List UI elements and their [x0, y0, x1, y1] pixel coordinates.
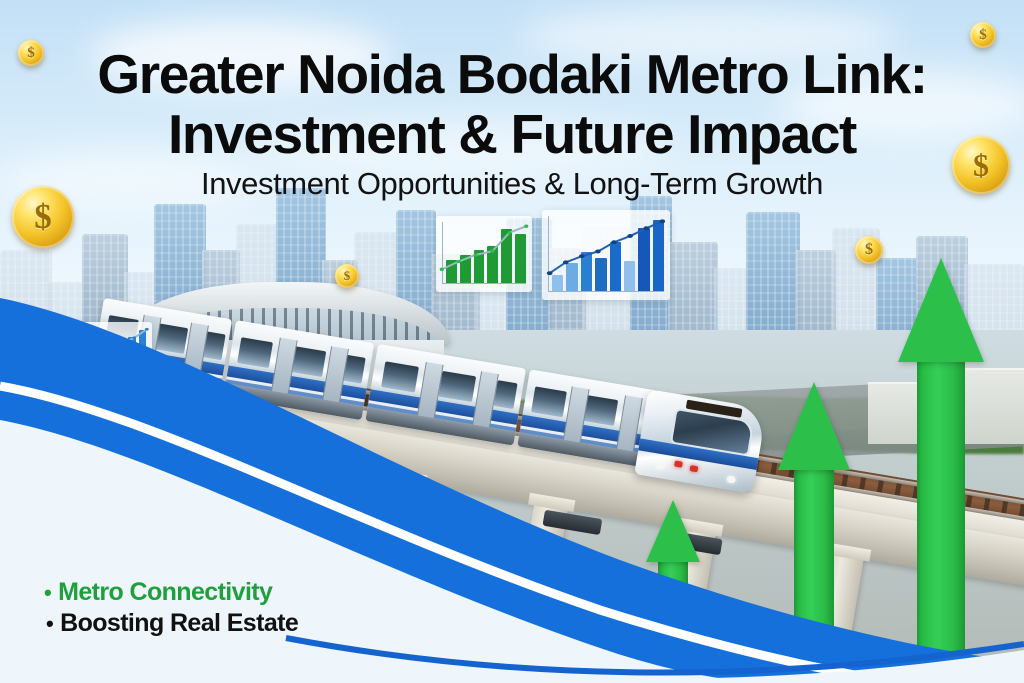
growth-arrow-icon: [646, 497, 700, 562]
chart-bar: [487, 246, 498, 283]
growth-arrow-icon: [898, 255, 984, 362]
chart-x-axis: [548, 291, 664, 292]
train-cab-front: [634, 389, 767, 494]
chart-bar: [128, 337, 135, 375]
tail-lamp-right: [689, 465, 698, 472]
arrow-shaft: [658, 542, 688, 683]
growth-arrow-4: [898, 255, 984, 683]
chart-y-axis: [548, 216, 549, 292]
bullet-metro-connectivity: • Metro Connectivity: [44, 577, 298, 608]
poster-canvas: $$$$$$ Greater Noida Bodaki Metro Link: …: [0, 0, 1024, 683]
chart-bars: [552, 216, 664, 291]
growth-arrow-1: [534, 559, 580, 683]
chart-bar: [595, 258, 606, 291]
chart-bar: [552, 275, 563, 292]
chart-x-axis: [72, 375, 146, 376]
page-subtitle: Investment Opportunities & Long-Term Gro…: [0, 166, 1024, 202]
bullet-boosting-real-estate: • Boosting Real Estate: [44, 608, 298, 639]
head-lamp-right: [726, 475, 736, 483]
chart-bar: [139, 330, 146, 375]
chart-bar: [460, 255, 471, 283]
chart-y-axis: [72, 328, 73, 376]
skyline-blue-bar-chart: [66, 322, 152, 384]
chart-bars: [446, 222, 526, 283]
growth-arrow-3: [778, 379, 850, 683]
chart-bars: [76, 328, 146, 375]
chart-bar: [624, 261, 635, 291]
bullet-dot-icon: •: [46, 613, 53, 635]
chart-bar: [638, 228, 649, 291]
green-bar-chart: [436, 216, 532, 292]
tail-lamp-left: [674, 460, 683, 467]
chart-bar: [653, 220, 664, 291]
head-lamp-left: [655, 461, 665, 469]
dollar-coin-icon: $: [855, 236, 883, 264]
growth-arrow-icon: [778, 379, 850, 470]
chart-bar: [446, 260, 457, 283]
chart-bar: [610, 242, 621, 292]
bullet-label-1: Metro Connectivity: [58, 577, 272, 608]
growth-arrow-2: [646, 497, 700, 683]
chart-bar: [566, 263, 577, 292]
title-line-1: Greater Noida Bodaki Metro Link:: [97, 43, 926, 105]
bullet-label-2: Boosting Real Estate: [60, 608, 298, 639]
chart-bar: [86, 357, 93, 375]
chart-bar: [501, 229, 512, 283]
chart-bar: [107, 348, 114, 375]
feature-bullets: • Metro Connectivity • Boosting Real Est…: [44, 577, 298, 639]
title-line-2: Investment & Future Impact: [0, 104, 1024, 164]
dollar-coin-icon: $: [335, 264, 359, 288]
chart-bar: [474, 250, 485, 283]
arrow-shaft: [917, 330, 965, 683]
coin-right-mid: $: [855, 236, 883, 264]
page-title: Greater Noida Bodaki Metro Link: Investm…: [0, 44, 1024, 164]
chart-bar: [581, 252, 592, 291]
blue-bar-chart: [542, 210, 670, 300]
chart-bar: [118, 343, 125, 375]
chart-bar: [97, 352, 104, 376]
chart-x-axis: [442, 283, 526, 284]
chart-bar: [515, 234, 526, 283]
chart-y-axis: [442, 222, 443, 284]
coin-mid-small: $: [335, 264, 359, 288]
chart-bar: [76, 363, 83, 375]
growth-arrow-icon: [534, 559, 580, 614]
arrow-shaft: [794, 442, 834, 683]
bullet-dot-icon: •: [44, 582, 51, 604]
